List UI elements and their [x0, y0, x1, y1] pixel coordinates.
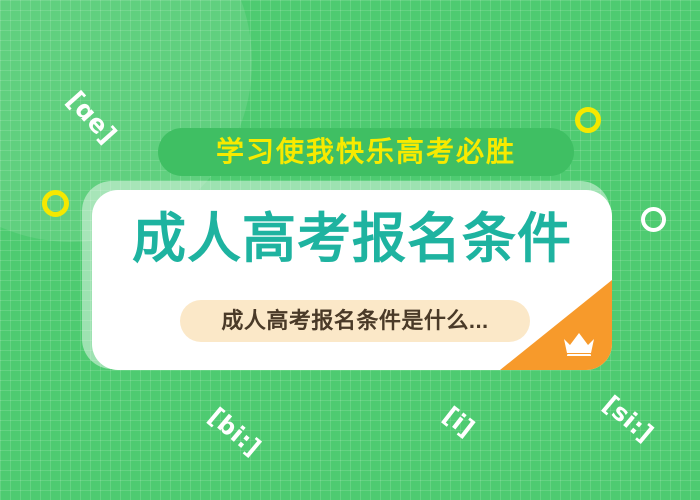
- top-banner: 学习使我快乐高考必胜: [158, 128, 574, 176]
- decorative-phonetic-bi: [bi:]: [203, 402, 267, 462]
- page-title: 成人高考报名条件: [92, 212, 612, 266]
- decorative-ring-white-right: [641, 207, 666, 232]
- decorative-ring-yellow-right: [575, 107, 601, 133]
- poster-canvas: [ɑe] [bi:] [i] [si:] 学习使我快乐高考必胜 成人高考报名条件…: [0, 0, 700, 500]
- subtitle-text: 成人高考报名条件是什么...: [221, 310, 488, 332]
- main-card: 成人高考报名条件 成人高考报名条件是什么...: [92, 190, 612, 370]
- decorative-phonetic-i: [i]: [438, 401, 480, 443]
- decorative-phonetic-si: [si:]: [598, 390, 659, 448]
- decorative-ring-yellow-left: [42, 190, 69, 217]
- subtitle-pill: 成人高考报名条件是什么...: [180, 300, 530, 342]
- top-banner-text: 学习使我快乐高考必胜: [216, 138, 516, 166]
- crown-icon: [562, 330, 596, 356]
